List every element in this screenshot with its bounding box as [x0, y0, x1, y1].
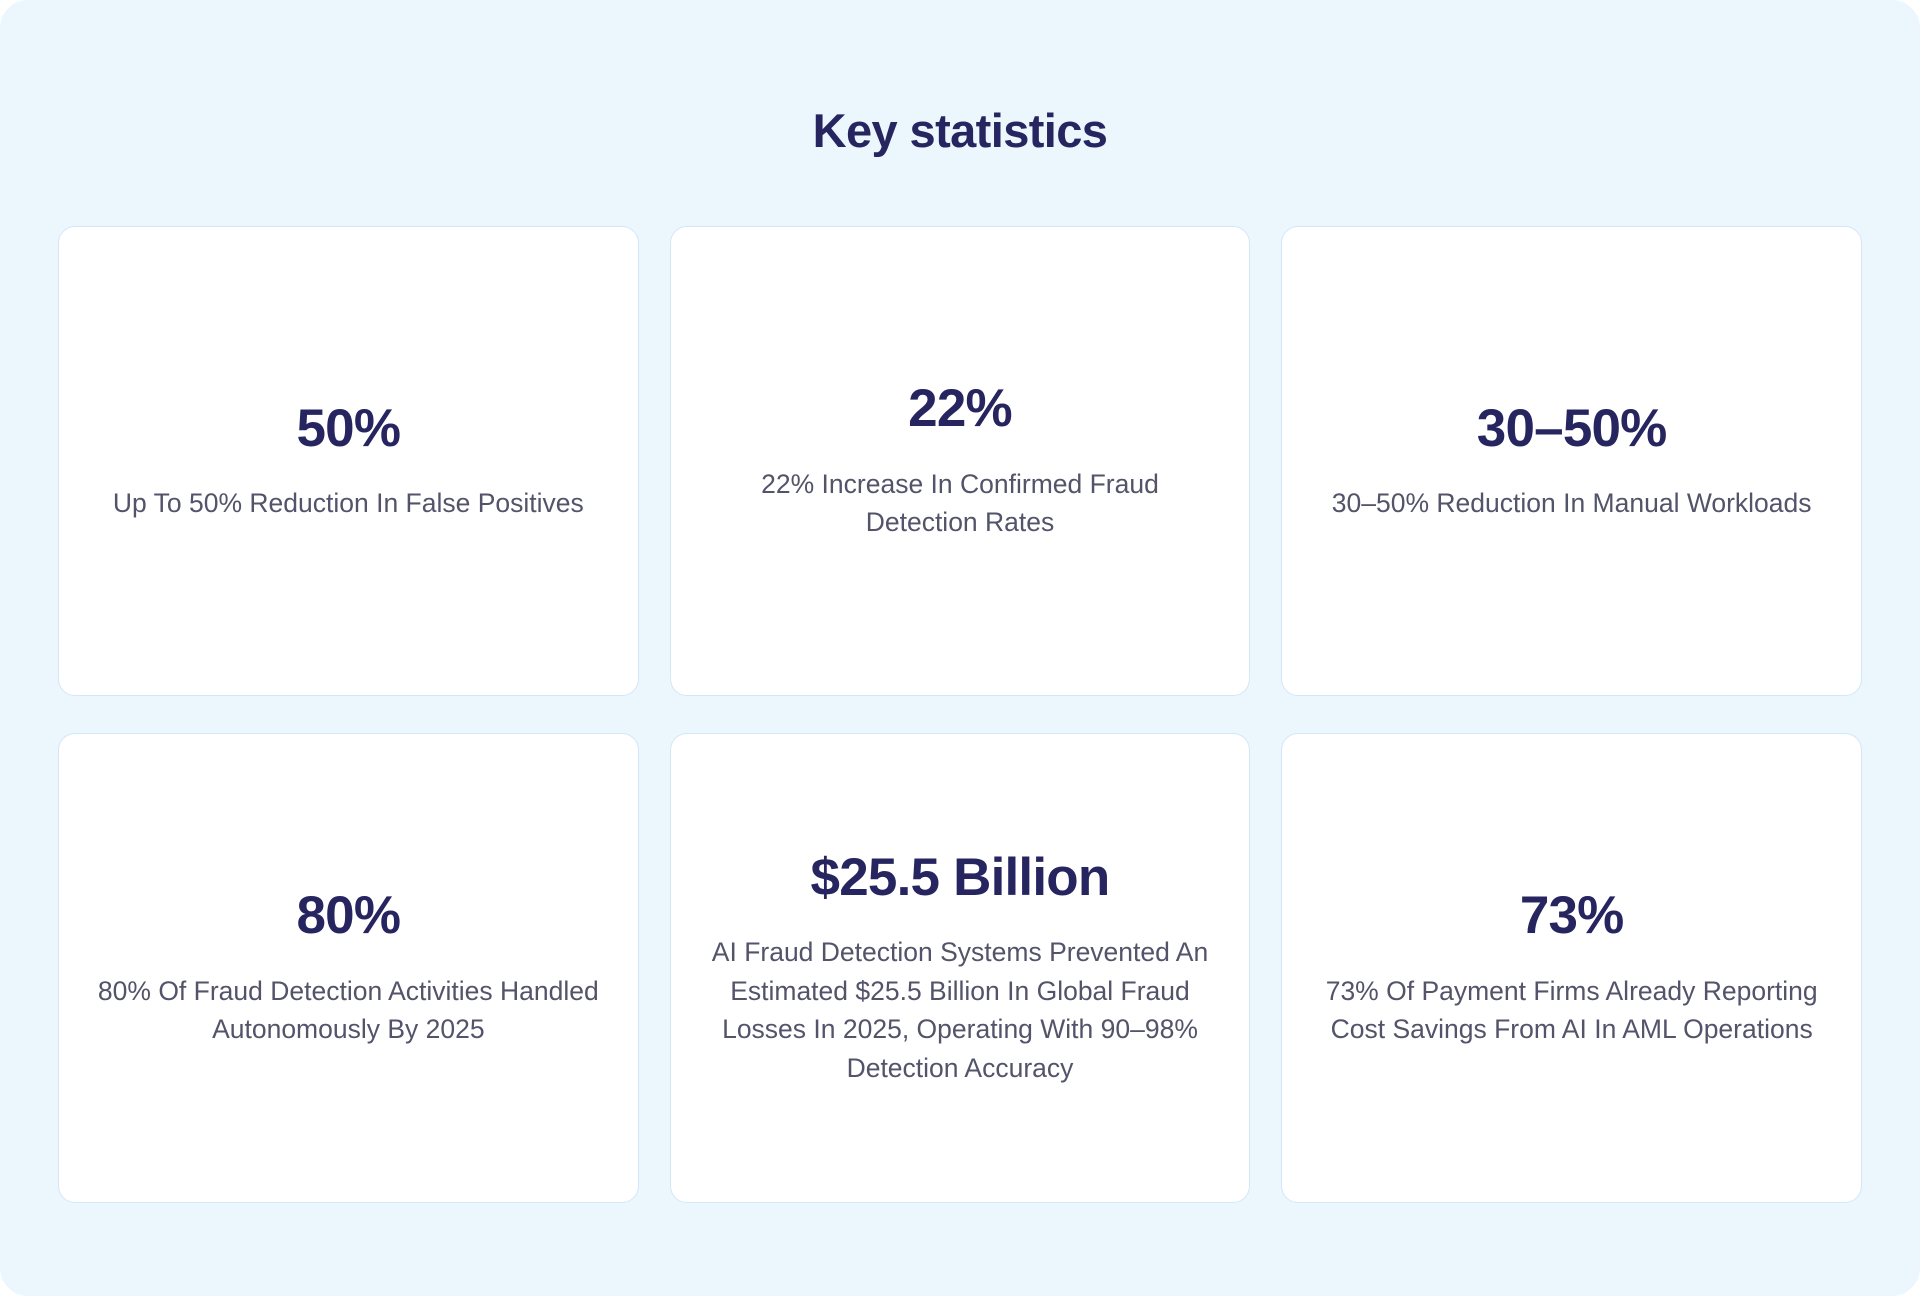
stat-card: 80% 80% Of Fraud Detection Activities Ha…: [58, 733, 639, 1203]
stat-card: 22% 22% Increase In Confirmed Fraud Dete…: [670, 226, 1251, 696]
stat-value: 22%: [908, 380, 1012, 438]
stat-card: $25.5 Billion AI Fraud Detection Systems…: [670, 733, 1251, 1203]
statistics-grid: 50% Up To 50% Reduction In False Positiv…: [58, 226, 1862, 1203]
stat-value: 80%: [296, 887, 400, 945]
stat-description: 73% Of Payment Firms Already Reporting C…: [1316, 972, 1827, 1049]
stat-description: AI Fraud Detection Systems Prevented An …: [705, 933, 1216, 1087]
page-title: Key statistics: [58, 0, 1862, 158]
stat-value: $25.5 Billion: [811, 849, 1110, 907]
stat-card: 73% 73% Of Payment Firms Already Reporti…: [1281, 733, 1862, 1203]
stat-description: 80% Of Fraud Detection Activities Handle…: [93, 972, 604, 1049]
stat-value: 50%: [296, 400, 400, 458]
key-statistics-page: Key statistics 50% Up To 50% Reduction I…: [0, 0, 1920, 1296]
stat-value: 73%: [1520, 887, 1624, 945]
stat-description: 22% Increase In Confirmed Fraud Detectio…: [705, 465, 1216, 542]
stat-value: 30–50%: [1477, 400, 1667, 458]
stat-card: 50% Up To 50% Reduction In False Positiv…: [58, 226, 639, 696]
stat-card: 30–50% 30–50% Reduction In Manual Worklo…: [1281, 226, 1862, 696]
stat-description: Up To 50% Reduction In False Positives: [113, 484, 584, 522]
stat-description: 30–50% Reduction In Manual Workloads: [1332, 484, 1812, 522]
